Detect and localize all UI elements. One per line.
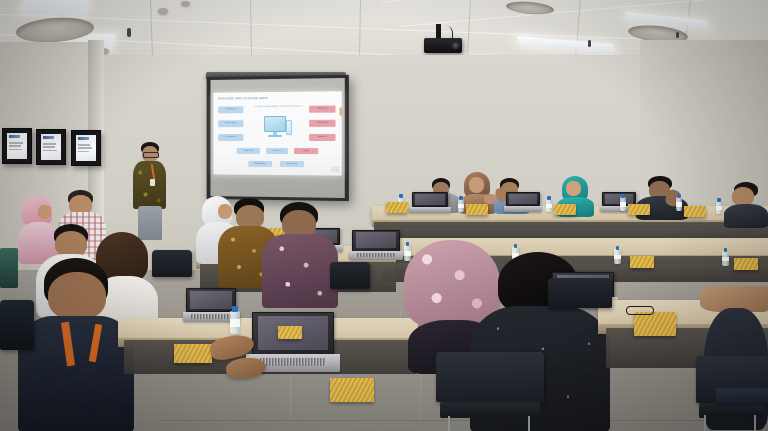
- slide-center-caption: CONNECT MANAGEMENT SYSTEM APPLICATION: [252, 106, 304, 109]
- water-bottle[interactable]: [620, 194, 626, 211]
- ceiling-light-panel: [20, 0, 91, 14]
- monitor-icon: [264, 116, 286, 138]
- presentation-slide: FEATURE APPLICATION APPS Dashboard Maste…: [213, 91, 341, 175]
- water-bottle[interactable]: [230, 306, 240, 334]
- chair[interactable]: [152, 250, 192, 294]
- slide-bottom-box: Mobile Apps: [248, 161, 272, 167]
- smoke-detector-icon: [158, 8, 168, 14]
- chair[interactable]: [330, 262, 370, 306]
- slide-middle-box: Output: [294, 148, 318, 154]
- torso: [18, 316, 134, 431]
- snack-box[interactable]: [684, 206, 706, 217]
- chair[interactable]: [548, 278, 612, 326]
- presenter: [132, 142, 168, 242]
- sprinkler-head-icon: [588, 40, 591, 47]
- slide-middle-box: Process: [266, 148, 288, 154]
- sprinkler-head-icon: [127, 28, 131, 37]
- chair-accent: [716, 388, 768, 406]
- water-bottle[interactable]: [716, 198, 722, 214]
- chair-accent: [0, 248, 18, 288]
- laptop[interactable]: [412, 192, 448, 213]
- attendee-purple-batik: [262, 202, 340, 312]
- head: [48, 272, 106, 320]
- snack-box[interactable]: [634, 312, 676, 336]
- smoke-detector-icon: [181, 1, 190, 6]
- torso: [724, 204, 768, 228]
- water-bottle[interactable]: [546, 196, 552, 212]
- face: [469, 177, 484, 193]
- slide-right-box: Monitoring: [309, 120, 335, 127]
- slide-title: FEATURE APPLICATION APPS: [218, 96, 268, 100]
- snack-box[interactable]: [330, 378, 374, 402]
- laptop[interactable]: [506, 192, 540, 212]
- smartphone-icon: [286, 120, 292, 135]
- projection-screen[interactable]: FEATURE APPLICATION APPS Dashboard Maste…: [207, 75, 349, 201]
- snack-box[interactable]: [630, 256, 654, 268]
- slide-left-box: Dashboard: [218, 106, 243, 113]
- slide-middle-box: Input Data: [237, 148, 261, 154]
- badge: [150, 179, 155, 186]
- slide-left-box: Master Data: [218, 120, 243, 127]
- glasses-icon: [143, 152, 159, 158]
- sprinkler-head-icon: [676, 32, 679, 38]
- water-bottle[interactable]: [458, 196, 464, 212]
- batik-shirt: [262, 234, 338, 308]
- face: [566, 181, 581, 196]
- water-bottle[interactable]: [676, 194, 682, 211]
- projector-lens-icon: [452, 42, 459, 49]
- face: [38, 205, 51, 219]
- snack-box[interactable]: [278, 326, 302, 339]
- eyeglasses-icon: [626, 306, 654, 315]
- photo-scene: FEATURE APPLICATION APPS Dashboard Maste…: [0, 0, 768, 431]
- slide-bottom-box: Web Portal: [280, 161, 304, 167]
- snack-box[interactable]: [386, 202, 408, 213]
- slide-right-box: Reporting: [309, 106, 335, 113]
- slide-logo-icon: [331, 166, 338, 172]
- slide-right-box: Approval: [309, 134, 335, 141]
- water-bottle[interactable]: [614, 246, 621, 264]
- snack-box[interactable]: [628, 204, 650, 215]
- slide-left-box: User Access: [218, 134, 243, 141]
- snack-box[interactable]: [466, 204, 488, 215]
- water-bottle[interactable]: [722, 248, 729, 266]
- screen-surface: FEATURE APPLICATION APPS Dashboard Maste…: [210, 78, 344, 198]
- laptop[interactable]: [186, 288, 236, 322]
- framed-certificate: [2, 128, 32, 164]
- slide-accent-bar: [340, 108, 342, 116]
- chair[interactable]: [0, 300, 34, 380]
- laptop[interactable]: [352, 230, 400, 260]
- snack-box[interactable]: [174, 344, 212, 363]
- snack-box[interactable]: [734, 258, 758, 270]
- framed-certificate: [36, 129, 66, 165]
- ceiling-projector: [424, 38, 462, 55]
- chair[interactable]: [436, 352, 544, 431]
- snack-box[interactable]: [554, 204, 576, 215]
- attendee-far-right: [724, 182, 768, 226]
- framed-certificate: [71, 130, 101, 166]
